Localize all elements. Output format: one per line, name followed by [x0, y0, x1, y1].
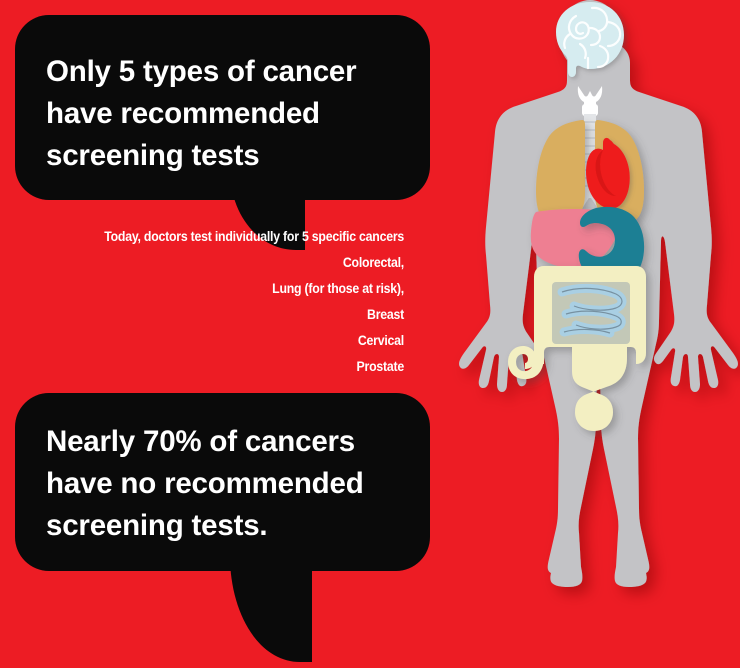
list-item-colorectal: Colorectal, — [32, 250, 404, 276]
list-item-prostate: Prostate — [32, 354, 404, 380]
screening-list: Today, doctors test individually for 5 s… — [0, 224, 404, 380]
screening-list-lead: Today, doctors test individually for 5 s… — [32, 224, 404, 250]
headline-secondary-text: Nearly 70% of cancers have no recommende… — [46, 421, 418, 547]
speech-bubble-secondary: Nearly 70% of cancers have no recommende… — [15, 393, 430, 571]
list-item-lung: Lung (for those at risk), — [32, 276, 404, 302]
infographic-canvas: Only 5 types of cancer have recommended … — [0, 0, 740, 668]
list-item-breast: Breast — [32, 302, 404, 328]
list-item-cervical: Cervical — [32, 328, 404, 354]
